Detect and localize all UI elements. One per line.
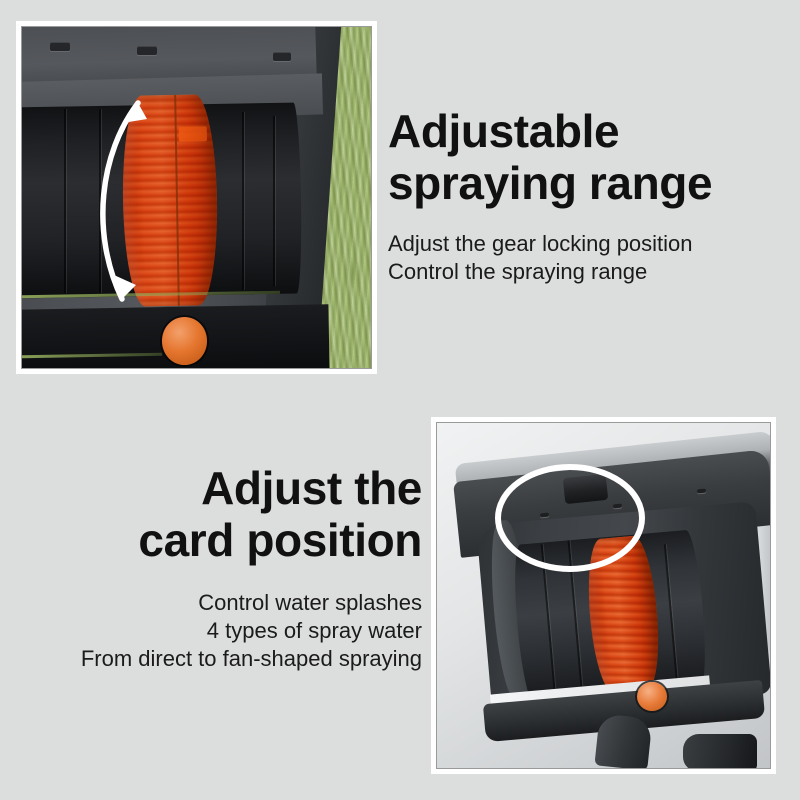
sprinkler-mount-foot	[683, 734, 756, 769]
headline-line: Adjustable	[388, 105, 788, 157]
subtext-group: Control water splashes 4 types of spray …	[10, 589, 422, 673]
photo-sprinkler-card-tab-studio	[437, 423, 770, 768]
drum-seam-line	[64, 109, 66, 293]
orange-adjustment-knob	[162, 317, 207, 365]
text-block-adjustable-spraying-range: Adjustable spraying range Adjust the gea…	[388, 105, 788, 286]
lid-vent-slot	[50, 42, 70, 51]
sprinkler-mount-stem	[594, 714, 652, 768]
black-card-tab-switch	[562, 474, 608, 504]
subtext-group: Adjust the gear locking position Control…	[388, 230, 788, 286]
sub-line: Control the spraying range	[388, 258, 788, 286]
headline-line: spraying range	[388, 157, 788, 209]
lid-vent-slot	[137, 46, 157, 55]
orange-adjustment-knob	[637, 682, 667, 711]
drum-seam-line	[99, 109, 101, 293]
lid-vent-slot	[273, 52, 291, 61]
photo-sprinkler-gear-closeup-outdoor	[22, 27, 371, 368]
gear-ridge-highlight	[178, 126, 207, 141]
head-plate-pin	[697, 488, 706, 493]
sub-line: From direct to fan-shaped spraying	[10, 645, 422, 673]
headline-line: Adjust the	[10, 462, 422, 514]
sub-line: 4 types of spray water	[10, 617, 422, 645]
product-infographic-poster: Adjustable spraying range Adjust the gea…	[0, 0, 800, 800]
head-plate-pin	[540, 512, 549, 517]
sub-line: Control water splashes	[10, 589, 422, 617]
drum-seam-line	[242, 112, 244, 289]
sub-line: Adjust the gear locking position	[388, 230, 788, 258]
text-block-adjust-the-card-position: Adjust the card position Control water s…	[10, 462, 422, 673]
headline-line: card position	[10, 514, 422, 566]
orange-gear-ring	[121, 94, 219, 307]
drum-seam-line	[273, 116, 275, 287]
